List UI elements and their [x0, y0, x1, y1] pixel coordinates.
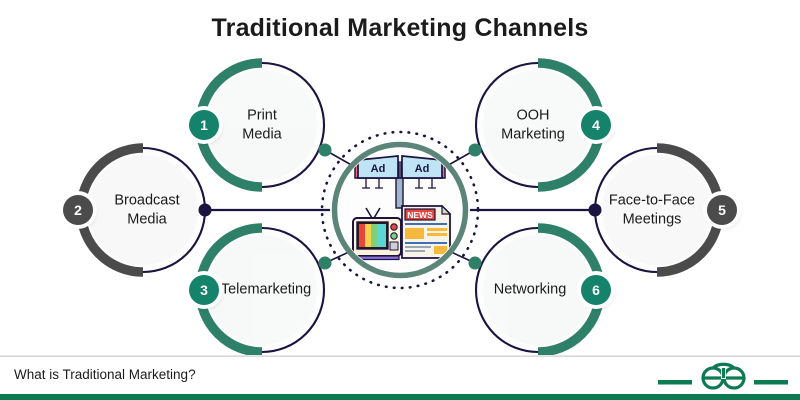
connector-dot-5: [589, 204, 602, 217]
node-label-4: OOH Marketing: [501, 106, 565, 143]
node-badge-3[interactable]: 3: [189, 275, 219, 305]
tv-screen-bars-icon: [359, 224, 386, 247]
node-badge-2[interactable]: 2: [63, 195, 93, 225]
footer-divider: [0, 356, 800, 357]
node-badge-5[interactable]: 5: [707, 195, 737, 225]
node-label-5: Face-to-Face Meetings: [609, 191, 695, 228]
footer-accent-bar: [0, 394, 800, 400]
billboard-text-left: Ad: [371, 163, 386, 175]
node-badge-1[interactable]: 1: [189, 110, 219, 140]
hub: Ad Ad: [322, 132, 478, 288]
footer-caption: What is Traditional Marketing?: [14, 367, 196, 382]
infographic-canvas: Traditional Marketing Channels: [0, 0, 800, 400]
connector-dot-1: [319, 144, 332, 157]
connector-dot-6: [469, 257, 482, 270]
node-label-1: Print Media: [242, 106, 282, 143]
connector-dot-3: [319, 257, 332, 270]
connector-dot-4: [469, 144, 482, 157]
node-badge-4[interactable]: 4: [581, 110, 611, 140]
billboard-post-icon: [396, 178, 403, 208]
newspaper-masthead-text: NEWS: [407, 210, 433, 220]
node-label-2: Broadcast Media: [114, 191, 179, 228]
tv-knobs-icon: [390, 224, 398, 250]
footer: What is Traditional Marketing?: [0, 355, 800, 400]
node-label-6: Networking: [494, 281, 567, 300]
node-badge-6[interactable]: 6: [581, 275, 611, 305]
connector-dot-2: [199, 204, 212, 217]
billboard-text-right: Ad: [415, 163, 430, 175]
geeksforgeeks-logo[interactable]: [658, 360, 788, 394]
node-label-3: Telemarketing: [221, 281, 311, 300]
